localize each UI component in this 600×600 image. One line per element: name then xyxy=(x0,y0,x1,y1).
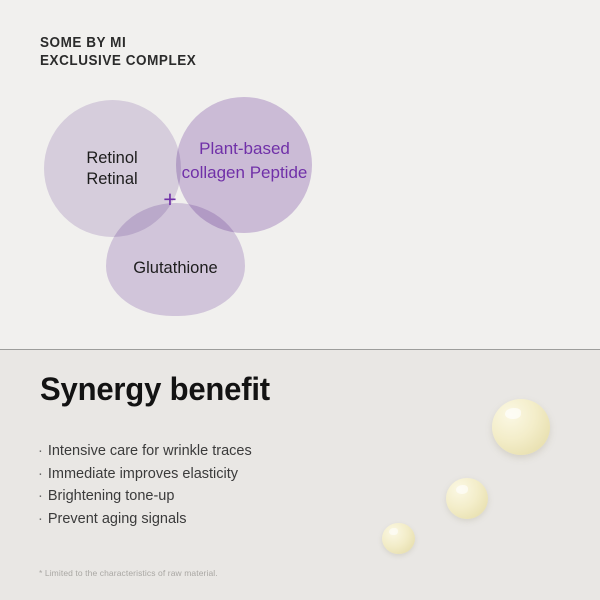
benefit-list: ·Intensive care for wrinkle traces·Immed… xyxy=(38,440,358,530)
cream-droplet-small xyxy=(382,523,415,554)
venn-label-glutathione: Glutathione xyxy=(104,258,247,279)
benefit-item: ·Immediate improves elasticity xyxy=(38,463,358,486)
infographic-page: SOME BY MI EXCLUSIVE COMPLEX Retinol Ret… xyxy=(0,0,600,600)
footnote: * Limited to the characteristics of raw … xyxy=(39,568,218,578)
benefit-item: ·Brightening tone-up xyxy=(38,485,358,508)
benefit-item-label: Immediate improves elasticity xyxy=(48,466,238,482)
bullet-dot-icon: · xyxy=(38,488,43,504)
venn-label-retinol: Retinol Retinal xyxy=(60,148,164,190)
bullet-dot-icon: · xyxy=(38,443,43,459)
plus-icon: + xyxy=(160,188,180,210)
benefit-item-label: Intensive care for wrinkle traces xyxy=(48,443,252,459)
venn-diagram: Retinol Retinal Plant-based collagen Pep… xyxy=(0,0,340,340)
bullet-dot-icon: · xyxy=(38,466,43,482)
product-photo xyxy=(340,0,600,350)
benefit-item-label: Brightening tone-up xyxy=(48,488,175,504)
synergy-title: Synergy benefit xyxy=(40,371,270,408)
cream-droplet-medium xyxy=(446,478,488,519)
venn-label-collagen: Plant-based collagen Peptide xyxy=(178,137,311,185)
bullet-dot-icon: · xyxy=(38,511,43,527)
cream-droplet-large xyxy=(492,399,550,455)
venn-label-retinol-line1: Retinol xyxy=(60,148,164,169)
benefit-item: ·Prevent aging signals xyxy=(38,508,358,531)
benefit-item-label: Prevent aging signals xyxy=(48,511,187,527)
benefit-item: ·Intensive care for wrinkle traces xyxy=(38,440,358,463)
venn-label-retinol-line2: Retinal xyxy=(60,169,164,190)
